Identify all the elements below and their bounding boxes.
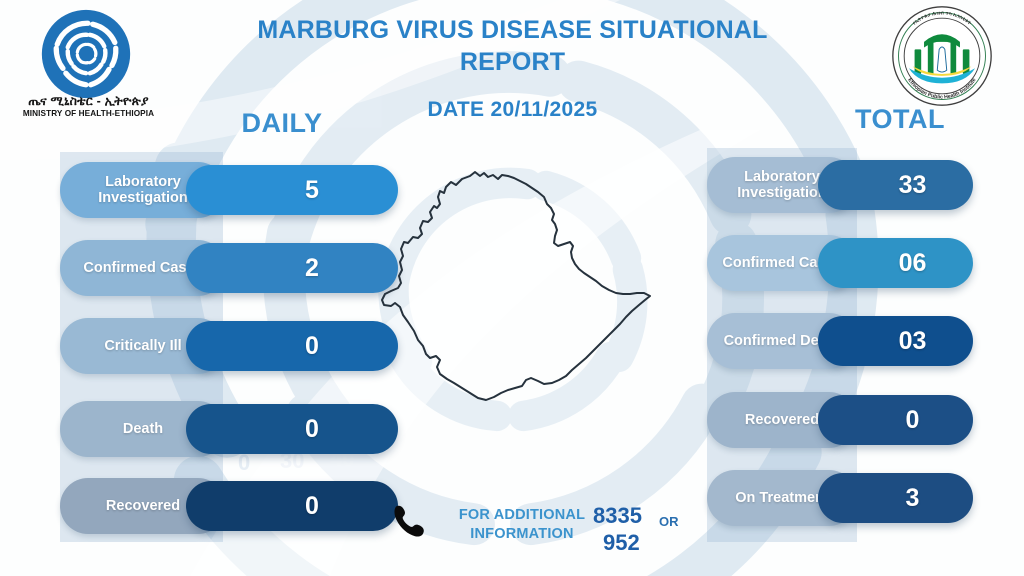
ephi-logo-svg: የኢትዮጵያ ሕዝብ ጥካ ኢንስቲቱት Ethiopian Public He… <box>890 4 994 108</box>
total-value-confirmed-cases: 06 <box>899 249 927 278</box>
daily-value-confirmed-cases: 2 <box>305 254 319 283</box>
daily-row-laboratory-investigation: Laboratory Investigation 5 <box>60 162 350 218</box>
total-value-confirmed-death: 03 <box>899 327 927 356</box>
total-value-pill-laboratory-investigation: 33 <box>818 160 973 210</box>
total-value-pill-confirmed-death: 03 <box>818 316 973 366</box>
daily-value-critically-ill: 0 <box>305 332 319 361</box>
ephi-seal-logo: የኢትዮጵያ ሕዝብ ጥካ ኢንስቲቱት Ethiopian Public He… <box>890 4 994 108</box>
total-value-recovered: 0 <box>906 406 920 435</box>
contact-number-secondary: 952 <box>603 530 640 556</box>
contact-conjunction: OR <box>659 514 679 529</box>
moh-logo-svg <box>38 6 134 102</box>
daily-row-death: Death 0 <box>60 401 350 457</box>
phone-icon-svg <box>388 502 424 538</box>
total-value-laboratory-investigation: 33 <box>899 171 927 200</box>
page-title: MARBURG VIRUS DISEASE SITUATIONAL REPORT <box>240 14 785 78</box>
moh-caption-english: MINISTRY OF HEALTH-ETHIOPIA <box>16 109 161 118</box>
daily-value-death: 0 <box>305 415 319 444</box>
daily-value-pill-recovered: 0 <box>186 481 398 531</box>
moh-caption-amharic: ጤና ሚኒስቴር - ኢትዮጵያ <box>16 94 161 108</box>
total-value-pill-confirmed-cases: 06 <box>818 238 973 288</box>
total-row-confirmed-death: Confirmed Death 03 <box>707 313 973 369</box>
daily-row-critically-ill: Critically Ill 0 <box>60 318 350 374</box>
total-value-pill-recovered: 0 <box>818 395 973 445</box>
daily-row-recovered: Recovered 0 <box>60 478 350 534</box>
total-row-confirmed-cases: Confirmed Cases 06 <box>707 235 973 291</box>
total-value-on-treatment: 3 <box>906 484 920 513</box>
report-date: DATE 20/11/2025 <box>330 98 695 122</box>
daily-value-recovered: 0 <box>305 492 319 521</box>
contact-number-primary: 8335 <box>593 503 642 529</box>
moh-logo-caption: ጤና ሚኒስቴር - ኢትዮጵያ MINISTRY OF HEALTH-ETHI… <box>16 94 161 119</box>
total-row-laboratory-investigation: Laboratory Investigation 33 <box>707 157 973 213</box>
ethiopia-map-svg <box>358 150 658 450</box>
daily-value-laboratory-investigation: 5 <box>305 176 319 205</box>
daily-row-confirmed-cases: Confirmed Cases 2 <box>60 240 350 296</box>
phone-icon <box>388 502 424 540</box>
daily-column-heading: DAILY <box>212 108 352 139</box>
contact-label: FOR ADDITIONAL INFORMATION <box>447 506 597 543</box>
total-row-recovered: Recovered 0 <box>707 392 973 448</box>
total-row-on-treatment: On Treatment 3 <box>707 470 973 526</box>
moh-knot-logo <box>38 6 134 102</box>
total-column-heading: TOTAL <box>830 104 970 135</box>
ethiopia-map-outline <box>358 150 658 450</box>
situational-report-poster: 0 30 40 60 <box>0 0 1024 576</box>
total-value-pill-on-treatment: 3 <box>818 473 973 523</box>
